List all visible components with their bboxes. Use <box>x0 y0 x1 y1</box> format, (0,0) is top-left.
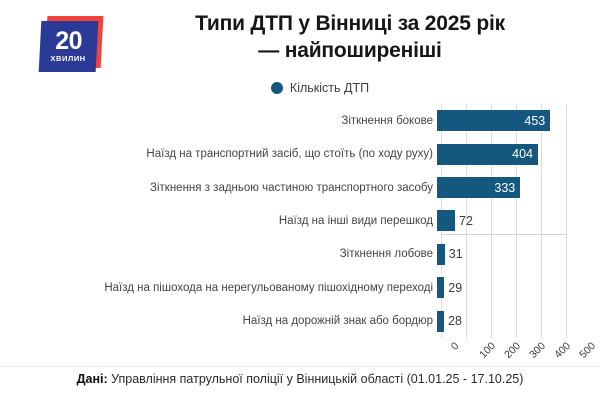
x-tick-label: 500 <box>577 340 598 361</box>
title-line-1: Типи ДТП у Вінниці за 2025 рік <box>110 10 590 37</box>
x-axis-baseline <box>441 234 567 235</box>
bar-row[interactable]: Зіткнення лобове31 <box>0 238 600 271</box>
data-source-note: Дані: Управління патрульної поліції у Ві… <box>0 372 600 386</box>
x-tick-label: 300 <box>527 340 548 361</box>
x-tick-label: 100 <box>477 340 498 361</box>
category-label: Зіткнення з задньою частиною транспортно… <box>0 182 437 194</box>
bar-container: 72 <box>437 204 600 237</box>
page-title: Типи ДТП у Вінниці за 2025 рік — найпоши… <box>110 10 590 64</box>
footer-divider <box>0 366 600 367</box>
logo-number: 20 <box>55 29 82 54</box>
bar-value-label: 29 <box>444 281 462 295</box>
bar-row[interactable]: Наїзд на пішохода на нерегульованому піш… <box>0 271 600 304</box>
bar[interactable] <box>437 210 455 231</box>
source-prefix: Дані: <box>77 372 108 386</box>
bar-container: 31 <box>437 238 600 271</box>
logo-wordmark: ХВИЛИН <box>50 54 85 64</box>
category-label: Наїзд на транспортний засіб, що стоїть (… <box>0 148 437 160</box>
bar-row[interactable]: Наїзд на інші види перешкод72 <box>0 204 600 237</box>
bar-value-label: 404 <box>512 147 538 161</box>
category-label: Зіткнення лобове <box>0 248 437 260</box>
category-label: Наїзд на інші види перешкод <box>0 215 437 227</box>
category-label: Зіткнення бокове <box>0 115 437 127</box>
bar-value-label: 28 <box>444 314 462 328</box>
chart-header: 20 ХВИЛИН Типи ДТП у Вінниці за 2025 рік… <box>0 0 600 78</box>
bar[interactable]: 453 <box>437 110 550 131</box>
x-axis-tick-labels: 0100200300400500 <box>441 340 600 374</box>
bar[interactable] <box>437 311 444 332</box>
x-tick-label: 200 <box>502 340 523 361</box>
bar-container: 333 <box>437 171 600 204</box>
bar[interactable] <box>437 244 445 265</box>
bar-value-label: 72 <box>455 214 473 228</box>
source-text: Управління патрульної поліції у Вінницьк… <box>108 372 524 386</box>
bar-rows: Зіткнення бокове453Наїзд на транспортний… <box>0 104 600 338</box>
category-label: Наїзд на пішохода на нерегульованому піш… <box>0 282 437 294</box>
bar-row[interactable]: Наїзд на транспортний засіб, що стоїть (… <box>0 137 600 170</box>
bar-value-label: 31 <box>445 247 463 261</box>
x-tick-label: 400 <box>552 340 573 361</box>
bar-container: 29 <box>437 271 600 304</box>
bar-value-label: 333 <box>494 181 520 195</box>
chart-legend: Кількість ДТП <box>0 81 600 95</box>
bar[interactable] <box>437 277 444 298</box>
bar-container: 28 <box>437 305 600 338</box>
logo-blue-shape: 20 ХВИЛИН <box>39 21 99 72</box>
bar[interactable]: 333 <box>437 177 520 198</box>
title-line-2: — найпоширеніші <box>110 37 590 64</box>
bar-row[interactable]: Наїзд на дорожній знак або бордюр28 <box>0 305 600 338</box>
bar[interactable]: 404 <box>437 144 538 165</box>
circle-marker-icon <box>271 82 283 94</box>
bar-value-label: 453 <box>524 114 550 128</box>
legend-item-label: Кількість ДТП <box>290 81 369 95</box>
bar-row[interactable]: Зіткнення бокове453 <box>0 104 600 137</box>
category-label: Наїзд на дорожній знак або бордюр <box>0 315 437 327</box>
bar-row[interactable]: Зіткнення з задньою частиною транспортно… <box>0 171 600 204</box>
bar-container: 404 <box>437 137 600 170</box>
bar-chart: Зіткнення бокове453Наїзд на транспортний… <box>0 104 600 340</box>
x-tick-label: 0 <box>449 340 462 353</box>
bar-container: 453 <box>437 104 600 137</box>
brand-logo: 20 ХВИЛИН <box>38 16 108 72</box>
